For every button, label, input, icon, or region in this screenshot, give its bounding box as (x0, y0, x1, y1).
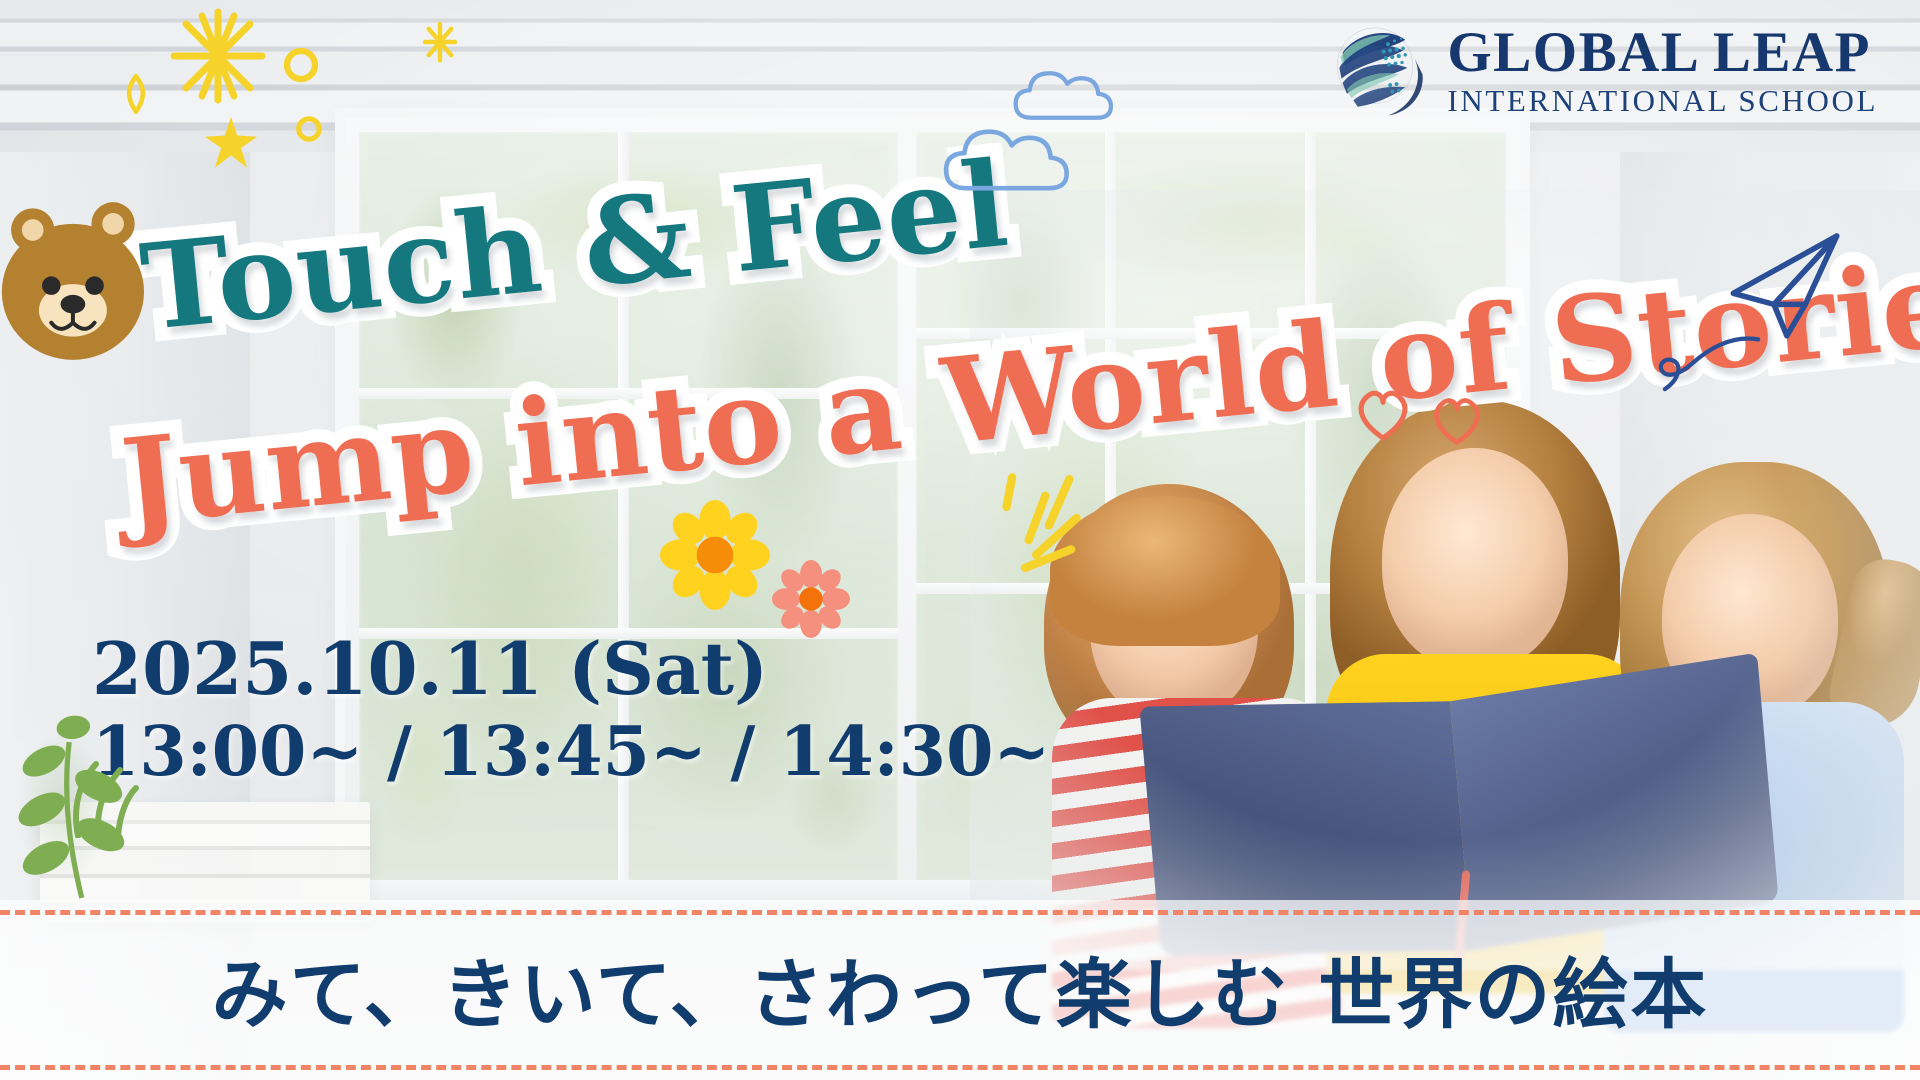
event-schedule: 2025.10.11 (Sat) 13:00~ / 13:45~ / 14:30… (92, 630, 1050, 790)
globe-logo-icon (1321, 16, 1429, 124)
school-logo[interactable]: GLOBAL LEAP INTERNATIONAL SCHOOL (1321, 16, 1878, 124)
event-poster: GLOBAL LEAP INTERNATIONAL SCHOOL Touch &… (0, 0, 1920, 1080)
event-times: 13:00~ / 13:45~ / 14:30~ (92, 714, 1050, 790)
event-date: 2025.10.11 (Sat) (92, 630, 1050, 708)
logo-sub-text: INTERNATIONAL SCHOOL (1447, 85, 1878, 116)
headline-group: Touch & Feel Jump into a World of Storie… (0, 150, 1920, 510)
logo-wordmark: GLOBAL LEAP INTERNATIONAL SCHOOL (1447, 24, 1878, 116)
child-hair-front (1050, 496, 1280, 646)
logo-main-text: GLOBAL LEAP (1447, 24, 1878, 81)
banner-headline: みて、きいて、さわって楽しむ 世界の絵本 (0, 933, 1920, 1043)
bottom-banner: みて、きいて、さわって楽しむ 世界の絵本 (0, 900, 1920, 1080)
headline-line-1: Touch & Feel (135, 134, 1014, 357)
banner-dashed-line-bottom (0, 1065, 1920, 1070)
banner-dashed-line-top (0, 910, 1920, 915)
